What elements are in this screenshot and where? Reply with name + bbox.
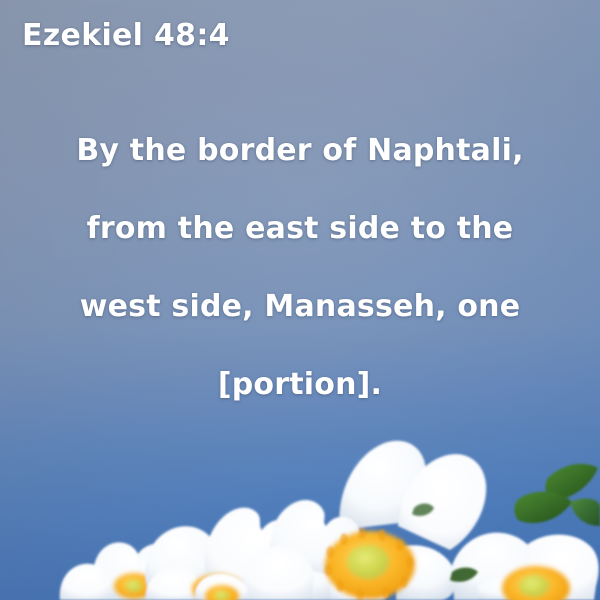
verse-line-2: from the east side to the xyxy=(30,190,570,268)
verse-body: By the border of Naphtali, from the east… xyxy=(30,112,570,424)
verse-reference-title: Ezekiel 48:4 xyxy=(22,19,230,54)
verse-text-layer: Ezekiel 48:4 By the border of Naphtali, … xyxy=(0,0,600,600)
scripture-verse-card: Ezekiel 48:4 By the border of Naphtali, … xyxy=(0,0,600,600)
verse-line-4: [portion]. xyxy=(30,346,570,424)
verse-line-1: By the border of Naphtali, xyxy=(30,112,570,190)
verse-line-3: west side, Manasseh, one xyxy=(30,268,570,346)
